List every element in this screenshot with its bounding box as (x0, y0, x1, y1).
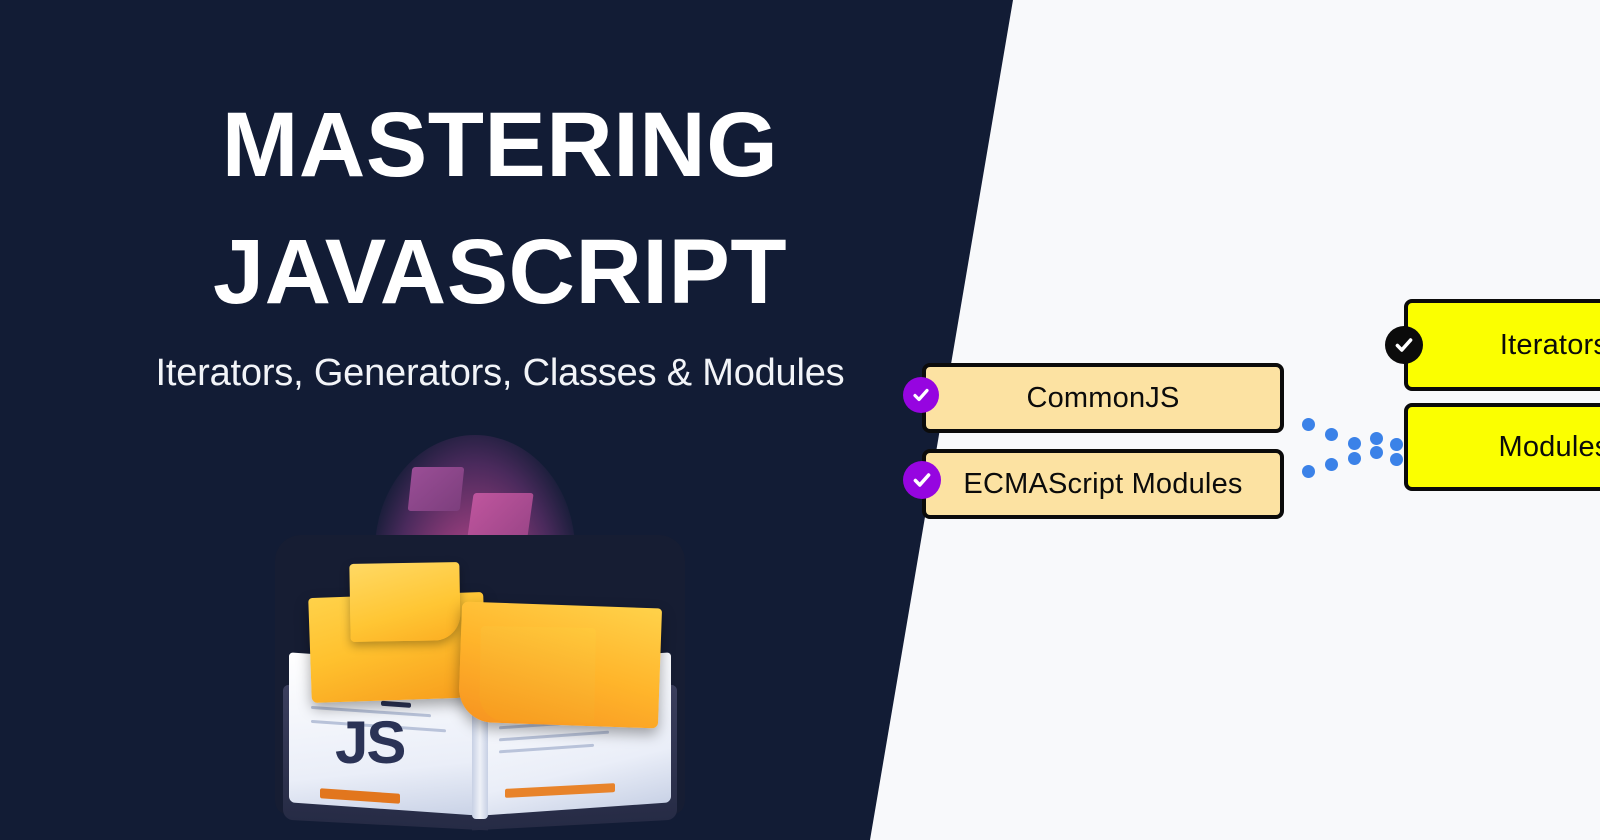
check-badge-black-iterators[interactable] (1385, 326, 1423, 364)
banner-canvas: MASTERING JAVASCRIPT Iterators, Generato… (0, 0, 1600, 840)
page-subtitle: Iterators, Generators, Classes & Modules (40, 352, 960, 395)
text-line (499, 744, 594, 754)
check-badge-purple-esm[interactable] (903, 461, 941, 499)
check-badge-purple-commonjs[interactable] (903, 377, 939, 413)
javascript-book-illustration: JS (255, 405, 705, 840)
connector-dot (1370, 432, 1383, 445)
connector-dot (1390, 453, 1403, 466)
sticky-note-purple-1 (408, 467, 465, 511)
diagram-node-label: Modules (1498, 431, 1600, 464)
diagram-node-commonjs[interactable]: CommonJS (922, 363, 1284, 433)
diagram-node-modules[interactable]: Modules (1404, 403, 1600, 491)
title-line-1: MASTERING (150, 82, 850, 209)
text-line-bold (381, 701, 411, 708)
connector-dot (1325, 458, 1338, 471)
diagram-node-label: CommonJS (1026, 382, 1179, 415)
connector-dot (1302, 418, 1315, 431)
text-line (499, 731, 609, 742)
connector-dot (1390, 438, 1403, 451)
js-logo-text: JS (335, 708, 404, 777)
connector-dot (1348, 452, 1361, 465)
connector-dot (1348, 437, 1361, 450)
bookmark-tab-left-upper (349, 562, 460, 642)
connector-dot (1370, 446, 1383, 459)
title-line-2: JAVASCRIPT (150, 209, 850, 336)
bookmark-tab-right-inner (479, 626, 596, 723)
diagram-node-ecmascript-modules[interactable]: ECMAScript Modules (922, 449, 1284, 519)
diagram-node-iterators[interactable]: Iterators (1404, 299, 1600, 391)
diagram-node-label: Iterators (1500, 329, 1600, 362)
page-title: MASTERING JAVASCRIPT (150, 82, 850, 336)
diagram-node-label: ECMAScript Modules (963, 468, 1242, 501)
connector-dot (1325, 428, 1338, 441)
connector-dot (1302, 465, 1315, 478)
